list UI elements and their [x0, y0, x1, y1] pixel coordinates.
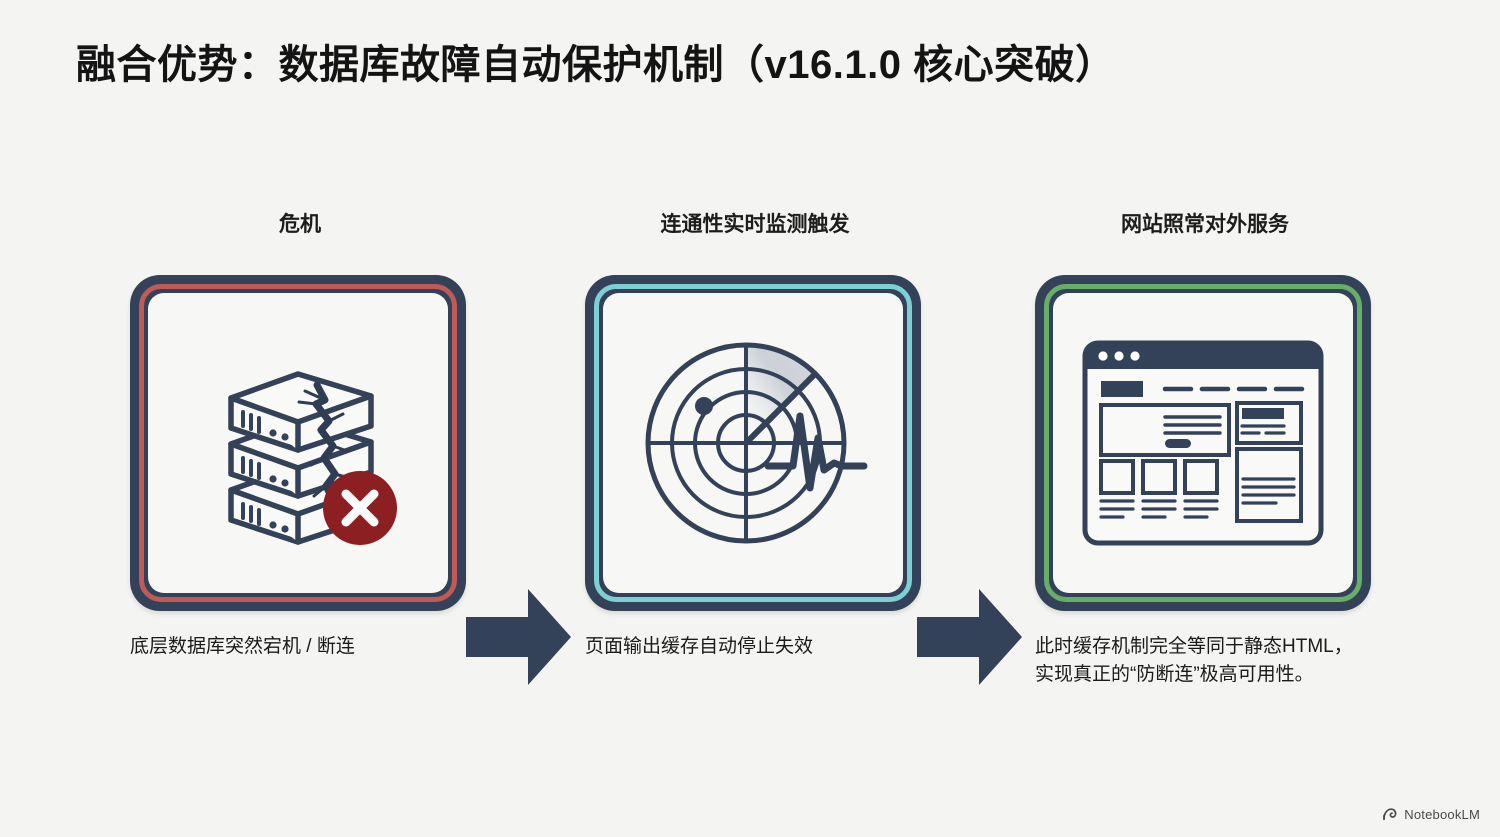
flow-step-website: 网站照常对外服务 — [1035, 205, 1375, 688]
arrow-step2-to-step3 — [917, 583, 1022, 691]
step-card-2-border — [594, 284, 912, 602]
browser-website-wireframe-icon — [1081, 339, 1325, 547]
flow-step-crisis: 危机 — [130, 205, 470, 661]
radar-pulse-monitor-icon — [628, 318, 878, 568]
page-title: 融合优势：数据库故障自动保护机制（v16.1.0 核心突破） — [76, 40, 1416, 90]
flow-step-monitor: 连通性实时监测触发 — [585, 205, 925, 661]
step-heading-1: 危机 — [130, 205, 470, 245]
step-card-1 — [130, 275, 466, 611]
step-heading-3: 网站照常对外服务 — [1035, 205, 1375, 245]
step-caption-2: 页面输出缓存自动停止失效 — [585, 633, 915, 661]
step-caption-1: 底层数据库突然宕机 / 断连 — [130, 633, 460, 661]
notebooklm-watermark: NotebookLM — [1381, 806, 1480, 823]
process-flow: 危机 — [0, 205, 1500, 725]
step-card-2 — [585, 275, 921, 611]
step-card-1-border — [139, 284, 457, 602]
notebooklm-spiral-icon — [1381, 806, 1398, 823]
step-card-3-border — [1044, 284, 1362, 602]
step-heading-2: 连通性实时监测触发 — [585, 205, 925, 245]
slide-canvas: 融合优势：数据库故障自动保护机制（v16.1.0 核心突破） 危机 — [0, 0, 1500, 837]
arrow-step1-to-step2 — [466, 583, 571, 691]
error-cross-badge — [323, 471, 397, 545]
step-card-3 — [1035, 275, 1371, 611]
broken-server-stack-icon — [173, 318, 423, 568]
step-caption-3: 此时缓存机制完全等同于静态HTML，实现真正的“防断连”极高可用性。 — [1035, 633, 1365, 688]
step-card-3-plate — [1053, 293, 1353, 593]
step-card-2-plate — [603, 293, 903, 593]
notebooklm-label: NotebookLM — [1404, 807, 1480, 822]
step-card-1-plate — [148, 293, 448, 593]
